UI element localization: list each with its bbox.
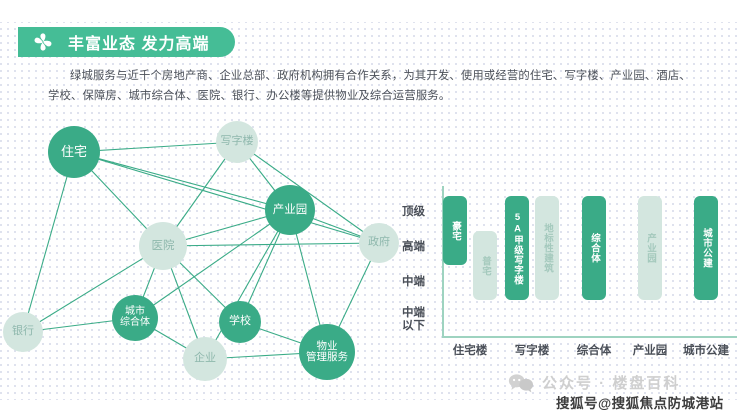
watermark-text: 公众号 · 楼盘百科: [542, 372, 680, 393]
chart-bar-label: 地标性建筑: [540, 223, 554, 273]
chart-y-label-中端: 中端: [402, 276, 440, 289]
chart-bar-label: 豪宅: [448, 221, 462, 241]
chart-bar-地标性建筑[interactable]: 地标性建筑: [535, 196, 559, 300]
source-attribution: 搜狐号@搜狐焦点防城港站: [556, 392, 724, 412]
chart-bar-城市公建[interactable]: 城市公建: [694, 196, 718, 300]
chart-x-axis: [442, 336, 737, 338]
paragraph-line-1: 绿城服务与近千个房地产商、企业总部、政府机构拥有合作关系，为其开发、使用或经营的…: [70, 70, 691, 82]
chart-x-label-住宅楼: 住宅楼: [453, 342, 488, 358]
top-white-band: [0, 0, 740, 22]
chart-x-label-产业园: 产业园: [633, 342, 668, 358]
chart-bar-产业园[interactable]: 产业园: [638, 196, 662, 300]
chart-x-label-综合体: 综合体: [577, 342, 612, 358]
network-node-qiye[interactable]: 企业: [183, 337, 227, 381]
chart-bar-综合体[interactable]: 综合体: [582, 196, 606, 300]
chart-bar-label: 产业园: [643, 233, 657, 263]
wechat-icon: [508, 373, 534, 393]
chart-y-label-中端以下: 中端 以下: [402, 307, 440, 333]
network-node-zhuzhai[interactable]: 住宅: [48, 126, 100, 178]
chart-bar-label: 5A甲级写字楼: [510, 212, 524, 285]
network-node-yinhang[interactable]: 银行: [3, 312, 43, 352]
section-header-pill: 丰富业态 发力高端: [18, 27, 235, 57]
positioning-bar-chart: 顶级高端中端中端 以下 豪宅普宅5A甲级写字楼地标性建筑综合体产业园城市公建 住…: [400, 186, 740, 366]
chart-y-label-高端: 高端: [402, 241, 440, 254]
chart-bar-label: 综合体: [587, 233, 601, 263]
chart-x-label-写字楼: 写字楼: [515, 342, 550, 358]
intro-paragraph: 绿城服务与近千个房地产商、企业总部、政府机构拥有合作关系，为其开发、使用或经营的…: [48, 66, 696, 106]
network-node-chengshi[interactable]: 城市 综合体: [112, 295, 158, 341]
network-node-xuexiao[interactable]: 学校: [219, 301, 261, 343]
network-node-chanyeyuan[interactable]: 产业园: [265, 185, 315, 235]
chart-x-label-城市公建: 城市公建: [683, 342, 729, 358]
ecosystem-network-diagram: 住宅写字楼产业园医院政府城市 综合体学校银行企业物业 管理服务: [0, 112, 400, 387]
page-title: 丰富业态 发力高端: [68, 30, 209, 54]
network-node-zhengfu[interactable]: 政府: [359, 223, 399, 263]
network-edge: [74, 152, 290, 210]
clover-icon: [32, 31, 54, 53]
chart-bar-label: 普宅: [478, 256, 492, 276]
paragraph-line-2: 学校、保障房、城市综合体、医院、银行、办公楼等提供物业及综合运营服务。: [48, 86, 696, 106]
watermark: 公众号 · 楼盘百科: [508, 372, 680, 393]
chart-bar-普宅[interactable]: 普宅: [473, 231, 497, 300]
chart-bar-豪宅[interactable]: 豪宅: [443, 196, 467, 265]
network-node-wuye[interactable]: 物业 管理服务: [299, 324, 355, 380]
chart-bar-5A甲级写字楼[interactable]: 5A甲级写字楼: [505, 196, 529, 300]
network-node-xiezilou[interactable]: 写字楼: [216, 121, 258, 163]
network-edge: [74, 152, 379, 243]
chart-y-label-顶级: 顶级: [402, 206, 440, 219]
network-node-yiyuan[interactable]: 医院: [139, 222, 187, 270]
chart-bar-label: 城市公建: [699, 228, 713, 268]
